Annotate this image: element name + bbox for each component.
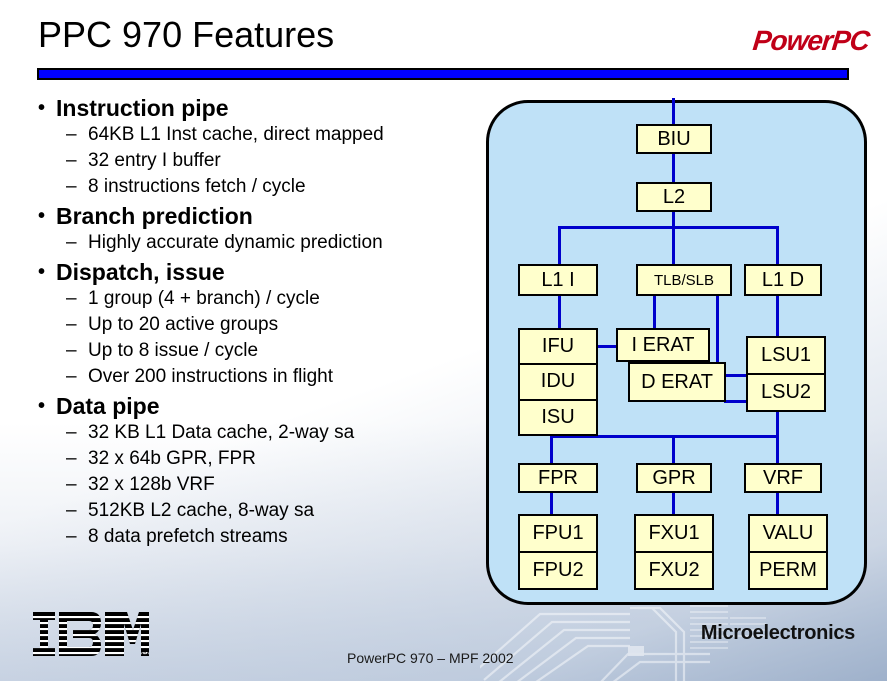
block-l1i: L1 I bbox=[518, 264, 598, 296]
page-title: PPC 970 Features bbox=[38, 14, 334, 56]
wire-fpr-fpu bbox=[550, 492, 553, 514]
sub-bullet-text: Over 200 instructions in flight bbox=[88, 364, 333, 390]
title-accent-bar bbox=[37, 68, 849, 80]
sub-bullet-marker: – bbox=[30, 364, 88, 390]
sub-bullet: – 32 entry I buffer bbox=[30, 148, 490, 174]
sub-bullet: – 8 data prefetch streams bbox=[30, 524, 490, 550]
sub-bullet-text: Highly accurate dynamic prediction bbox=[88, 230, 383, 256]
sub-bullet: – Highly accurate dynamic prediction bbox=[30, 230, 490, 256]
bullet-text: Dispatch, issue bbox=[56, 258, 225, 286]
bullet-text: Instruction pipe bbox=[56, 94, 229, 122]
block-i-erat: I ERAT bbox=[616, 328, 710, 362]
sub-bullet-marker: – bbox=[30, 174, 88, 200]
block-label: L1 D bbox=[762, 270, 804, 290]
wire-l2-down bbox=[672, 212, 675, 264]
sub-bullet-marker: – bbox=[30, 338, 88, 364]
sub-bullet-text: Up to 8 issue / cycle bbox=[88, 338, 258, 364]
block-label: VRF bbox=[763, 468, 803, 488]
sub-bullet: – Up to 20 active groups bbox=[30, 312, 490, 338]
block-ifu: IFU bbox=[520, 330, 596, 365]
block-label: IDU bbox=[541, 370, 575, 393]
sub-bullet: – Over 200 instructions in flight bbox=[30, 364, 490, 390]
bullet-branch-prediction: • Branch prediction bbox=[30, 202, 490, 230]
block-l1d: L1 D bbox=[744, 264, 822, 296]
wire-bus-to-l1i bbox=[558, 226, 561, 264]
block-label: FXU2 bbox=[648, 559, 699, 582]
block-d-erat: D ERAT bbox=[628, 362, 726, 402]
block-label: TLB/SLB bbox=[654, 273, 714, 288]
ppc970-block-diagram: BIU L2 L1 I TLB/SLB L1 D IFU IDU ISU I E… bbox=[486, 100, 867, 605]
block-label: GPR bbox=[652, 468, 695, 488]
bullet-instruction-pipe: • Instruction pipe bbox=[30, 94, 490, 122]
bullet-marker: • bbox=[30, 202, 56, 230]
sub-bullet-text: 32 entry I buffer bbox=[88, 148, 221, 174]
sub-bullet: – Up to 8 issue / cycle bbox=[30, 338, 490, 364]
sub-bullet-text: 512KB L2 cache, 8-way sa bbox=[88, 498, 314, 524]
block-label: L2 bbox=[663, 187, 685, 207]
block-isu: ISU bbox=[520, 401, 596, 434]
bullet-text: Branch prediction bbox=[56, 202, 253, 230]
powerpc-logo: PowerPC bbox=[751, 25, 870, 57]
block-biu: BIU bbox=[636, 124, 712, 154]
wire-l2-bus bbox=[558, 226, 779, 229]
bullet-dispatch-issue: • Dispatch, issue bbox=[30, 258, 490, 286]
sub-bullet: – 8 instructions fetch / cycle bbox=[30, 174, 490, 200]
block-fpr: FPR bbox=[518, 463, 598, 493]
bullet-marker: • bbox=[30, 258, 56, 286]
sub-bullet: – 32 x 128b VRF bbox=[30, 472, 490, 498]
sub-bullet-text: 32 x 64b GPR, FPR bbox=[88, 446, 256, 472]
block-perm: PERM bbox=[750, 553, 826, 588]
block-label: VALU bbox=[763, 522, 814, 545]
block-lsu2: LSU2 bbox=[748, 375, 824, 410]
sub-bullet-marker: – bbox=[30, 148, 88, 174]
wire-lsu2-down bbox=[776, 412, 779, 464]
sub-bullet: – 1 group (4 + branch) / cycle bbox=[30, 286, 490, 312]
slide-canvas: PPC 970 Features PowerPC • Instruction p… bbox=[0, 0, 887, 681]
block-stack-ifu-idu-isu: IFU IDU ISU bbox=[518, 328, 598, 436]
block-label: FPR bbox=[538, 468, 578, 488]
block-stack-fpu: FPU1 FPU2 bbox=[518, 514, 598, 590]
block-label: FPU2 bbox=[532, 559, 583, 582]
wire-bus-to-l1d bbox=[776, 226, 779, 264]
wire-bus-to-gpr bbox=[672, 435, 675, 463]
sub-bullet-text: 8 data prefetch streams bbox=[88, 524, 288, 550]
block-fpu1: FPU1 bbox=[520, 516, 596, 553]
division-label: Microelectronics bbox=[701, 622, 855, 645]
bullet-marker: • bbox=[30, 94, 56, 122]
sub-bullet-marker: – bbox=[30, 286, 88, 312]
sub-bullet-text: 64KB L1 Inst cache, direct mapped bbox=[88, 122, 384, 148]
wire-tlb-ierat bbox=[653, 296, 656, 328]
bullet-text: Data pipe bbox=[56, 392, 160, 420]
block-label: IFU bbox=[542, 335, 574, 358]
block-stack-fxu: FXU1 FXU2 bbox=[634, 514, 714, 590]
bullet-marker: • bbox=[30, 392, 56, 420]
block-label: FPU1 bbox=[532, 522, 583, 545]
sub-bullet-marker: – bbox=[30, 498, 88, 524]
wire-vrf-valu bbox=[776, 492, 779, 514]
bullet-data-pipe: • Data pipe bbox=[30, 392, 490, 420]
wire-ifu-ierat bbox=[596, 345, 616, 348]
sub-bullet-text: 8 instructions fetch / cycle bbox=[88, 174, 306, 200]
sub-bullet-text: Up to 20 active groups bbox=[88, 312, 278, 338]
sub-bullet-marker: – bbox=[30, 122, 88, 148]
block-lsu1: LSU1 bbox=[748, 338, 824, 375]
sub-bullet-marker: – bbox=[30, 524, 88, 550]
block-label: LSU1 bbox=[761, 344, 811, 367]
block-valu: VALU bbox=[750, 516, 826, 553]
block-label: D ERAT bbox=[641, 372, 713, 392]
sub-bullet-marker: – bbox=[30, 230, 88, 256]
block-fxu1: FXU1 bbox=[636, 516, 712, 553]
ibm-logo: R bbox=[33, 612, 149, 656]
block-fxu2: FXU2 bbox=[636, 553, 712, 588]
sub-bullet-marker: – bbox=[30, 420, 88, 446]
sub-bullet-marker: – bbox=[30, 446, 88, 472]
block-label: LSU2 bbox=[761, 381, 811, 404]
wire-bus-to-fpr bbox=[550, 435, 553, 463]
block-idu: IDU bbox=[520, 365, 596, 400]
block-label: L1 I bbox=[541, 270, 574, 290]
wire-top-stub bbox=[672, 98, 675, 126]
sub-bullet-marker: – bbox=[30, 472, 88, 498]
block-vrf: VRF bbox=[744, 463, 822, 493]
sub-bullet-marker: – bbox=[30, 312, 88, 338]
feature-bullet-list: • Instruction pipe – 64KB L1 Inst cache,… bbox=[30, 92, 490, 550]
wire-biu-l2 bbox=[672, 152, 675, 182]
block-label: I ERAT bbox=[632, 335, 695, 355]
wire-derat-lsu1 bbox=[724, 374, 748, 377]
block-label: FXU1 bbox=[648, 522, 699, 545]
sub-bullet-text: 32 KB L1 Data cache, 2-way sa bbox=[88, 420, 354, 446]
wire-gpr-fxu bbox=[672, 492, 675, 514]
slide-footnote: PowerPC 970 – MPF 2002 bbox=[347, 650, 514, 666]
sub-bullet-text: 32 x 128b VRF bbox=[88, 472, 215, 498]
block-stack-lsu: LSU1 LSU2 bbox=[746, 336, 826, 412]
block-label: BIU bbox=[657, 129, 690, 149]
sub-bullet: – 32 x 64b GPR, FPR bbox=[30, 446, 490, 472]
wire-l1d-lsu1 bbox=[776, 296, 779, 336]
wire-l1i-ifu bbox=[558, 296, 561, 328]
block-stack-vmx: VALU PERM bbox=[748, 514, 828, 590]
block-label: ISU bbox=[541, 406, 574, 429]
sub-bullet-text: 1 group (4 + branch) / cycle bbox=[88, 286, 320, 312]
sub-bullet: – 64KB L1 Inst cache, direct mapped bbox=[30, 122, 490, 148]
block-label: PERM bbox=[759, 559, 817, 582]
block-gpr: GPR bbox=[636, 463, 712, 493]
sub-bullet: – 32 KB L1 Data cache, 2-way sa bbox=[30, 420, 490, 446]
sub-bullet: – 512KB L2 cache, 8-way sa bbox=[30, 498, 490, 524]
block-l2: L2 bbox=[636, 182, 712, 212]
wire-derat-lsu2 bbox=[724, 400, 748, 403]
block-fpu2: FPU2 bbox=[520, 553, 596, 588]
block-tlb-slb: TLB/SLB bbox=[636, 264, 732, 296]
